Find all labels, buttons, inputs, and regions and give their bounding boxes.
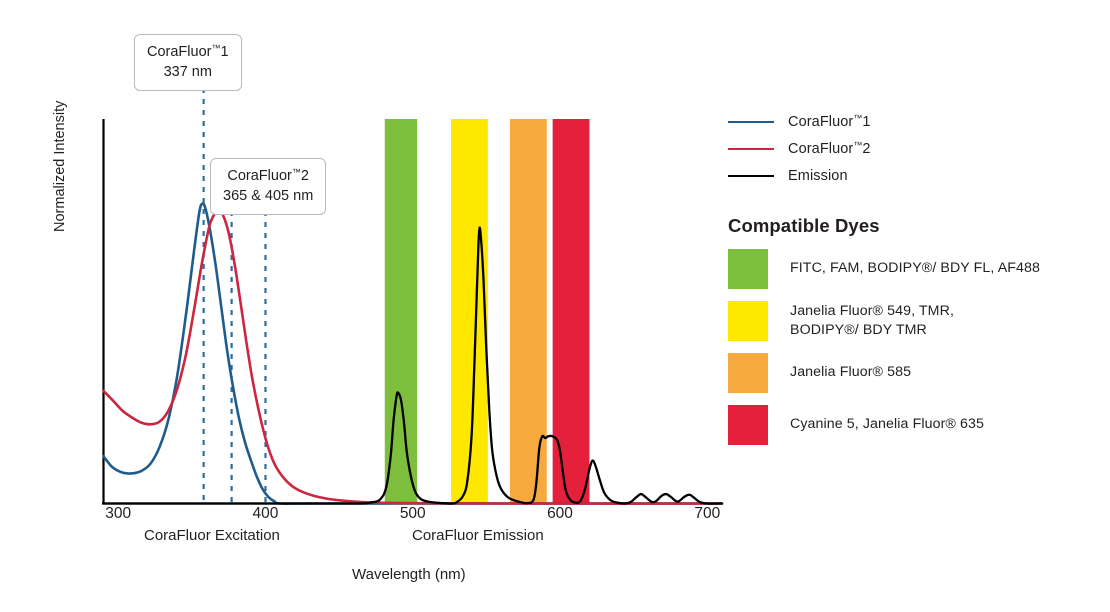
legend-item-1[interactable]: CoraFluor™2	[728, 135, 1100, 162]
dye-item-label: Janelia Fluor® 585	[790, 363, 911, 382]
legend-item-label: Emission	[788, 168, 848, 184]
dye-item-0[interactable]: FITC, FAM, BODIPY®/ BDY FL, AF488	[728, 249, 1100, 289]
compatible-dyes-title: Compatible Dyes	[728, 215, 1100, 237]
trademark-symbol: ™	[292, 167, 301, 177]
trademark-symbol: ™	[853, 113, 862, 123]
x-axis-title: Wavelength (nm)	[352, 566, 466, 583]
dye-item-label: Janelia Fluor® 549, TMR,BODIPY®/ BDY TMR	[790, 302, 954, 340]
callout-cf1-line2: 337 nm	[147, 63, 229, 83]
x-axis-section-emission: CoraFluor Emission	[412, 527, 544, 544]
dye-item-label-line2: BODIPY®/ BDY TMR	[790, 322, 927, 338]
dye-color-swatch	[728, 249, 768, 289]
orange-band	[510, 119, 547, 504]
marker-line-layer	[204, 88, 266, 504]
dye-color-swatch	[728, 353, 768, 393]
compatible-dyes-list: FITC, FAM, BODIPY®/ BDY FL, AF488Janelia…	[728, 249, 1100, 445]
dye-color-swatch	[728, 301, 768, 341]
x-tick-500: 500	[400, 505, 426, 523]
legend-item-label: CoraFluor™2	[788, 140, 871, 157]
legend-item-0[interactable]: CoraFluor™1	[728, 108, 1100, 135]
side-panel: CoraFluor™1CoraFluor™2Emission Compatibl…	[728, 108, 1100, 445]
callout-cf2-line1: CoraFluor™2	[227, 168, 309, 184]
dye-color-swatch	[728, 405, 768, 445]
x-axis-section-excitation: CoraFluor Excitation	[144, 527, 280, 544]
dye-item-label: Cyanine 5, Janelia Fluor® 635	[790, 415, 984, 434]
legend-item-label: CoraFluor™1	[788, 113, 871, 130]
callout-corafluor1: CoraFluor™1 337 nm	[134, 34, 242, 91]
callout-cf1-line1: CoraFluor™1	[147, 44, 229, 60]
y-axis-title: Normalized Intensity	[52, 52, 68, 232]
callout-cf2-line2: 365 & 405 nm	[223, 187, 313, 207]
legend-item-2[interactable]: Emission	[728, 162, 1100, 189]
legend-line-swatch	[728, 148, 774, 150]
trademark-symbol: ™	[853, 140, 862, 150]
x-tick-300: 300	[105, 505, 131, 523]
legend-line-swatch	[728, 175, 774, 177]
yellow-band	[451, 119, 488, 504]
callout-corafluor2: CoraFluor™2 365 & 405 nm	[210, 158, 326, 215]
legend-line-swatch	[728, 121, 774, 123]
dye-item-label: FITC, FAM, BODIPY®/ BDY FL, AF488	[790, 259, 1040, 278]
figure-root: CoraFluor™1 337 nm CoraFluor™2 365 & 405…	[0, 0, 1110, 612]
x-tick-600: 600	[547, 505, 573, 523]
dye-item-1[interactable]: Janelia Fluor® 549, TMR,BODIPY®/ BDY TMR	[728, 301, 1100, 341]
dye-item-3[interactable]: Cyanine 5, Janelia Fluor® 635	[728, 405, 1100, 445]
x-tick-400: 400	[253, 505, 279, 523]
dye-item-2[interactable]: Janelia Fluor® 585	[728, 353, 1100, 393]
legend: CoraFluor™1CoraFluor™2Emission	[728, 108, 1100, 189]
x-tick-700: 700	[694, 505, 720, 523]
green-band	[385, 119, 417, 504]
